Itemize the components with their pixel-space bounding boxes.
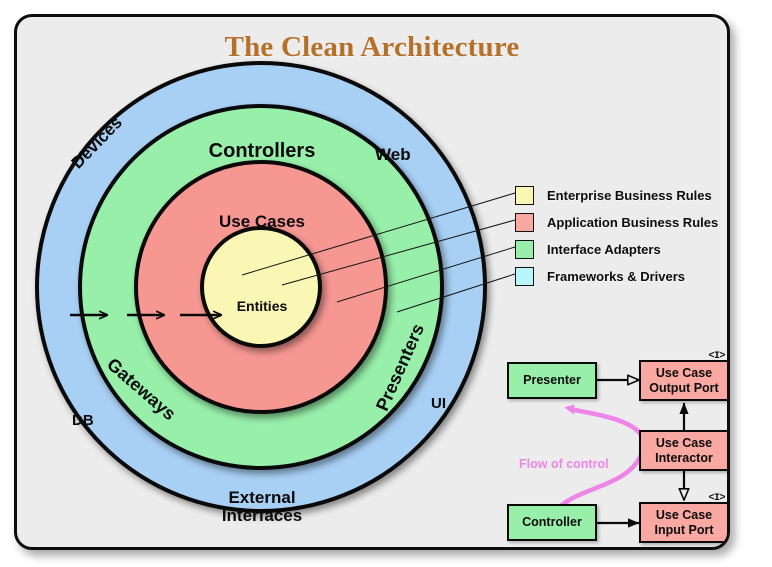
box-presenter-label: Presenter (523, 373, 581, 388)
box-controller[interactable]: Controller (507, 504, 597, 541)
box-presenter[interactable]: Presenter (507, 362, 597, 399)
flow-of-control-connectors: Use Case Input Port --> Output Port (sol… (17, 17, 730, 550)
box-interactor-line-1: Use Case (656, 436, 712, 450)
flow-of-control-label: Flow of control (519, 457, 609, 471)
box-use-case-input-port[interactable]: <I> Use Case Input Port (639, 502, 729, 543)
box-output-port-line-2: Output Port (649, 381, 718, 395)
box-input-port-line-1: Use Case (656, 508, 712, 522)
diagram-card: The Clean Architecture Controllers (14, 14, 730, 550)
box-use-case-interactor[interactable]: Use Case Interactor (639, 430, 729, 471)
interface-tag-output-port: <I> (708, 351, 725, 363)
box-controller-label: Controller (522, 515, 582, 530)
box-output-port-line-1: Use Case (656, 366, 712, 380)
box-interactor-label: Use Case Interactor (655, 436, 713, 466)
box-interactor-line-2: Interactor (655, 451, 713, 465)
box-input-port-label: Use Case Input Port (654, 508, 713, 538)
box-input-port-line-2: Input Port (654, 523, 713, 537)
interface-tag-input-port: <I> (708, 493, 725, 505)
box-output-port-label: Use Case Output Port (649, 366, 718, 396)
box-use-case-output-port[interactable]: <I> Use Case Output Port (639, 360, 729, 401)
